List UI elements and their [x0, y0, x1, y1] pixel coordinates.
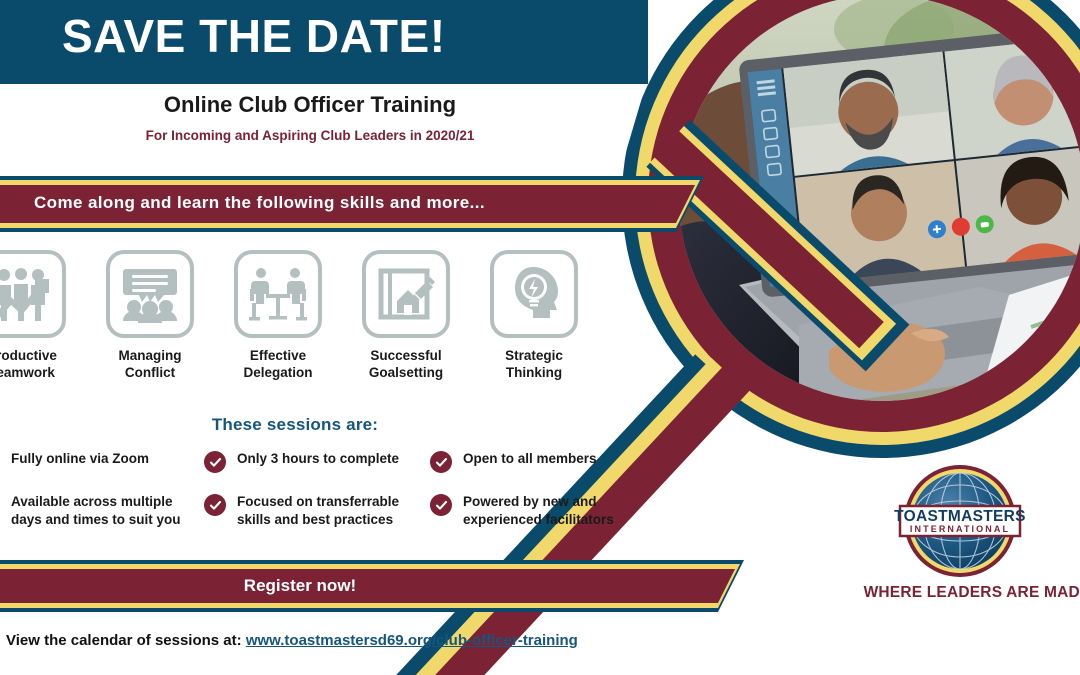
checklist-item: Available across multiple days and times…: [0, 493, 204, 529]
skills-banner: Come along and learn the following skill…: [0, 176, 676, 232]
discussion-group-icon: [106, 250, 194, 338]
checklist-text: Fully online via Zoom: [11, 450, 149, 468]
check-icon: [430, 494, 452, 516]
poster-canvas: SAVE THE DATE! Online Club Officer Train…: [0, 0, 1080, 675]
footer-prefix: View the calendar of sessions at:: [6, 632, 246, 649]
checklist-item: Fully online via Zoom: [0, 450, 204, 473]
checklist-text: Powered by new and experienced facilitat…: [463, 493, 614, 529]
checklist-row: Fully online via Zoom Only 3 hours to co…: [0, 450, 678, 493]
skill-label: Successful Goalsetting: [342, 348, 470, 382]
checklist-item: Only 3 hours to complete: [204, 450, 430, 473]
footer-line: View the calendar of sessions at: www.to…: [6, 632, 578, 649]
check-icon: [430, 451, 452, 473]
checklist-text: Focused on transferrable skills and best…: [237, 493, 399, 529]
meeting-table-icon: [234, 250, 322, 338]
skill-item-strategic-thinking: Strategic Thinking: [470, 250, 598, 400]
skill-item-productive-teamwork: Productive Teamwork: [0, 250, 86, 400]
skill-item-managing-conflict: Managing Conflict: [86, 250, 214, 400]
register-now-label: Register now!: [0, 576, 600, 596]
skill-label: Managing Conflict: [86, 348, 214, 382]
poster-header: SAVE THE DATE!: [0, 0, 648, 84]
skill-label: Strategic Thinking: [470, 348, 598, 382]
sessions-checklist: Fully online via Zoom Only 3 hours to co…: [0, 450, 678, 549]
page-title: SAVE THE DATE!: [62, 13, 446, 59]
checklist-item: Powered by new and experienced facilitat…: [430, 493, 656, 529]
checklist-text: Available across multiple days and times…: [11, 493, 181, 529]
head-lightbulb-icon: [490, 250, 578, 338]
skill-label: Productive Teamwork: [0, 348, 86, 382]
sessions-title: These sessions are:: [0, 415, 590, 435]
title-card: Online Club Officer Training For Incomin…: [0, 84, 620, 172]
svg-text:TOASTMASTERS: TOASTMASTERS: [894, 508, 1026, 525]
checklist-item: Focused on transferrable skills and best…: [204, 493, 430, 529]
register-banner[interactable]: Register now!: [0, 560, 718, 612]
course-subtitle: For Incoming and Aspiring Club Leaders i…: [0, 128, 620, 143]
logo-tagline: WHERE LEADERS ARE MADE: [857, 584, 1080, 602]
blueprint-pencil-icon: [362, 250, 450, 338]
checklist-text: Open to all members: [463, 450, 597, 468]
svg-text:INTERNATIONAL: INTERNATIONAL: [910, 524, 1010, 534]
skills-list: Productive Teamwork Managing Conflict: [0, 250, 618, 400]
skills-banner-text: Come along and learn the following skill…: [34, 193, 485, 213]
checklist-text: Only 3 hours to complete: [237, 450, 399, 468]
checklist-row: Available across multiple days and times…: [0, 493, 678, 549]
skill-item-effective-delegation: Effective Delegation: [214, 250, 342, 400]
check-icon: [204, 451, 226, 473]
checklist-item: Open to all members: [430, 450, 656, 473]
check-icon: [204, 494, 226, 516]
toastmasters-logo: TOASTMASTERS INTERNATIONAL: [880, 462, 1040, 580]
skill-item-successful-goalsetting: Successful Goalsetting: [342, 250, 470, 400]
skill-label: Effective Delegation: [214, 348, 342, 382]
course-title: Online Club Officer Training: [0, 92, 620, 118]
team-growth-icon: [0, 250, 66, 338]
registration-link[interactable]: www.toastmastersd69.org/club-officer-tra…: [246, 632, 578, 649]
